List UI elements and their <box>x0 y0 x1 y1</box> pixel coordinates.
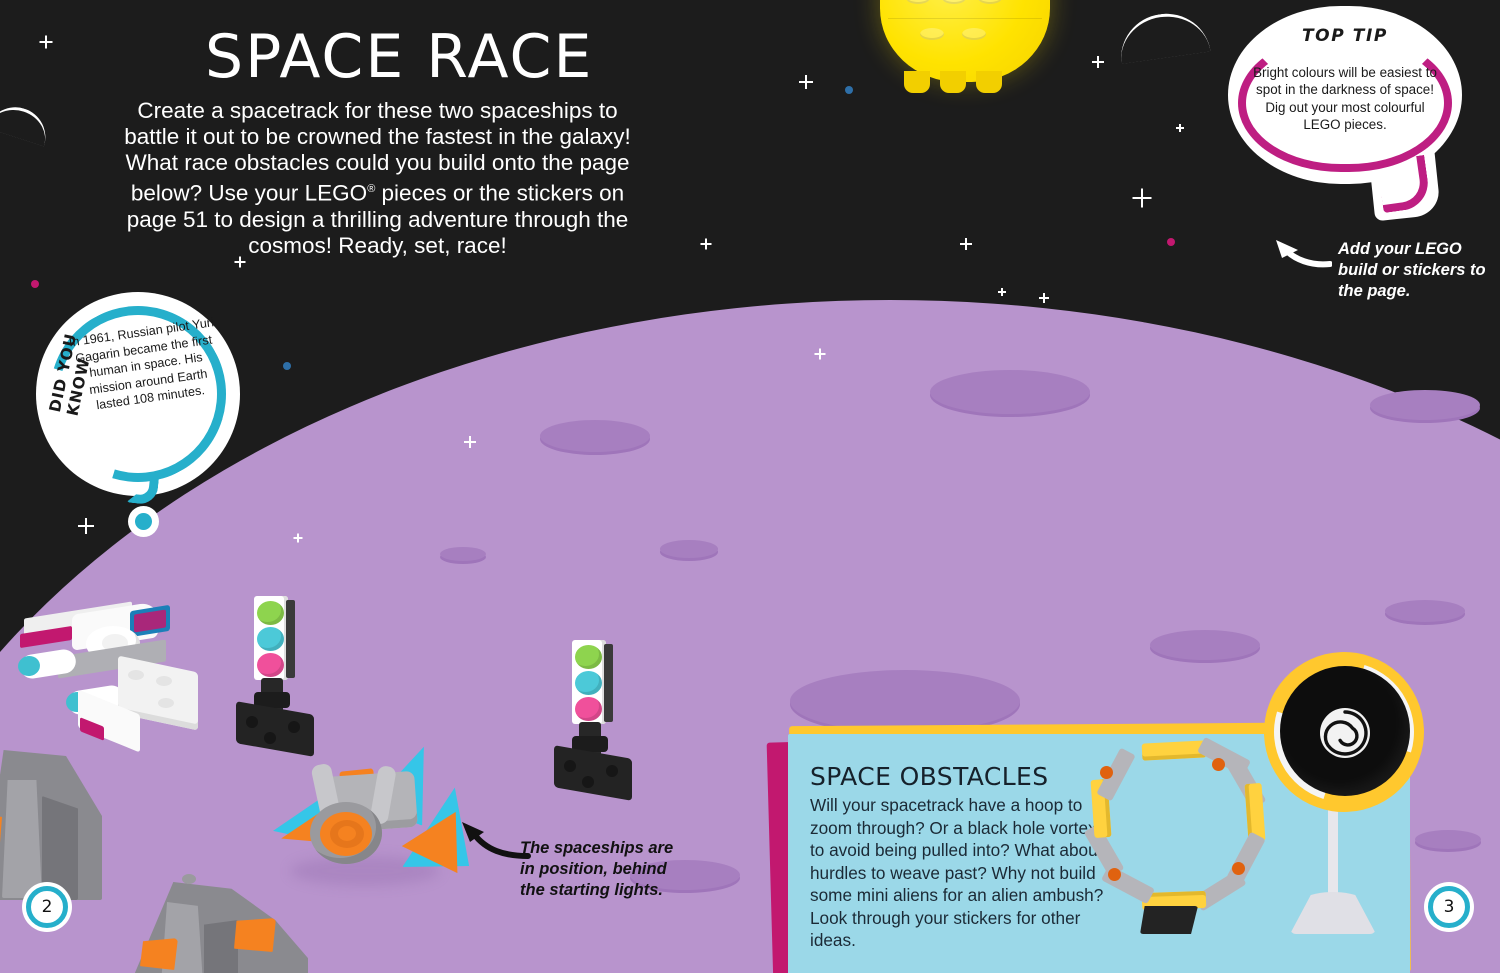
star-dot-blue <box>283 362 291 370</box>
top-tip-text: Bright colours will be easiest to spot i… <box>1252 64 1438 134</box>
space-obstacles-body: Will your spacetrack have a hoop to zoom… <box>810 794 1110 952</box>
crater <box>440 547 486 561</box>
rock-formation-bottom <box>126 858 326 973</box>
comet-streak <box>0 99 53 146</box>
crater <box>930 370 1090 414</box>
starting-light-left <box>230 596 350 760</box>
crater <box>1370 390 1480 420</box>
arrow-left-icon <box>1272 236 1332 270</box>
crater <box>540 420 650 452</box>
crater <box>1150 630 1260 660</box>
space-obstacles-title: SPACE OBSTACLES <box>810 762 1049 791</box>
star-dot-blue <box>845 86 853 94</box>
question-mark-dot <box>135 513 152 530</box>
sun-brick-build <box>880 0 1050 82</box>
crater <box>1385 600 1465 622</box>
vortex-spiral-icon <box>1318 706 1372 760</box>
crater <box>660 540 718 558</box>
top-tip-label: TOP TIP <box>1228 26 1462 46</box>
page-number-left: 2 <box>26 886 68 928</box>
page-number-right: 3 <box>1428 886 1470 928</box>
black-hole-vortex <box>1258 640 1448 940</box>
spaceships-position-note: The spaceships are in position, behind t… <box>520 838 680 901</box>
add-your-lego-note: Add your LEGO build or stickers to the p… <box>1338 239 1498 302</box>
star-dot-pink <box>1167 238 1175 246</box>
top-tip-callout: TOP TIP Bright colours will be easiest t… <box>1228 6 1462 184</box>
space-race-spread: SPACE RACE Create a spacetrack for these… <box>0 0 1500 973</box>
did-you-know-callout: DID YOU KNOW In 1961, Russian pilot Yuri… <box>42 298 234 490</box>
star-dot-pink <box>31 280 39 288</box>
lego-hoop <box>1094 742 1274 938</box>
white-spaceship <box>6 604 216 744</box>
starting-light-right <box>548 640 668 804</box>
comet-streak <box>1115 8 1210 64</box>
page-title: SPACE RACE <box>205 22 593 92</box>
question-mark-tail <box>126 469 159 506</box>
intro-paragraph: Create a spacetrack for these two spaces… <box>110 98 645 259</box>
